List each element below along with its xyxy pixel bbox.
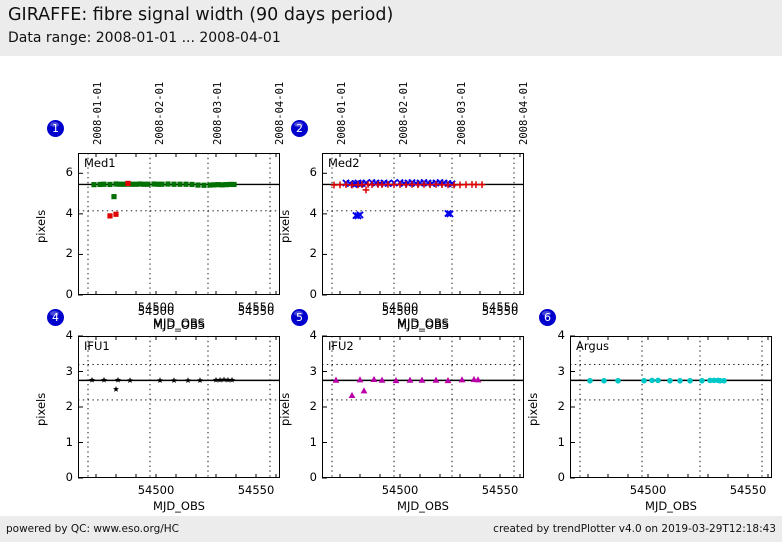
- panel-title: IFU1: [84, 339, 110, 353]
- y-tick-label: 4: [51, 328, 73, 342]
- plot-series-layer: [322, 153, 524, 295]
- plot-series-layer: [570, 336, 772, 478]
- y-tick-label: 1: [295, 435, 317, 449]
- x-tick-label: 54550: [228, 483, 284, 497]
- y-tick-label: 4: [295, 206, 317, 220]
- y-tick-label: 0: [295, 470, 317, 484]
- y-tick-label: 4: [543, 328, 565, 342]
- panel-badge-2: 2: [291, 120, 308, 137]
- y-tick-label: 3: [543, 364, 565, 378]
- x-tick-label-top: 54500: [128, 304, 184, 318]
- y-axis-label: pixels: [526, 393, 540, 426]
- x-tick-label: 54550: [472, 483, 528, 497]
- y-tick-label: 2: [543, 399, 565, 413]
- x-axis-label-top: MJD_OBS: [139, 318, 219, 332]
- x-tick-label: 54500: [620, 483, 676, 497]
- y-tick-label: 6: [51, 165, 73, 179]
- x-tick-label: 54550: [720, 483, 776, 497]
- plot-series-layer: [322, 336, 524, 478]
- y-axis-label: pixels: [278, 210, 292, 243]
- y-tick-label: 2: [51, 246, 73, 260]
- footer-divider: [0, 515, 782, 516]
- plot-panel-ifu1: IFU1: [78, 336, 280, 478]
- x-tick-label-top: 54550: [228, 304, 284, 318]
- page-title: GIRAFFE: fibre signal width (90 days per…: [8, 5, 393, 25]
- date-tick-label: 2008-03-01: [212, 82, 224, 145]
- plot-panel-med1: Med1: [78, 153, 280, 295]
- date-tick-label: 2008-02-01: [154, 82, 166, 145]
- y-tick-label: 2: [51, 399, 73, 413]
- panel-badge-5: 5: [291, 309, 308, 326]
- y-tick-label: 3: [295, 364, 317, 378]
- date-tick-label: 2008-02-01: [398, 82, 410, 145]
- page-footer: powered by QC: www.eso.org/HC created by…: [0, 515, 782, 542]
- x-tick-label: 54500: [128, 483, 184, 497]
- series-magenta-triangles: [333, 376, 482, 398]
- date-tick-label: 2008-04-01: [518, 82, 530, 145]
- y-tick-label: 2: [295, 399, 317, 413]
- y-axis-label: pixels: [278, 393, 292, 426]
- y-tick-label: 3: [51, 364, 73, 378]
- x-axis-label: MJD_OBS: [383, 499, 463, 513]
- page-header: GIRAFFE: fibre signal width (90 days per…: [0, 0, 782, 56]
- y-axis-label: pixels: [34, 210, 48, 243]
- date-tick-label: 2008-04-01: [274, 82, 286, 145]
- y-tick-label: 0: [295, 287, 317, 301]
- y-tick-label: 0: [543, 470, 565, 484]
- y-tick-label: 1: [51, 435, 73, 449]
- date-tick-label: 2008-03-01: [456, 82, 468, 145]
- y-tick-label: 4: [295, 328, 317, 342]
- plot-panel-med2: Med2: [322, 153, 524, 295]
- x-axis-label: MJD_OBS: [139, 499, 219, 513]
- plot-panel-ifu2: IFU2: [322, 336, 524, 478]
- page-subtitle: Data range: 2008-01-01 ... 2008-04-01: [8, 30, 281, 46]
- footer-credit-right: created by trendPlotter v4.0 on 2019-03-…: [493, 523, 776, 535]
- date-tick-label: 2008-01-01: [92, 82, 104, 145]
- y-tick-label: 4: [51, 206, 73, 220]
- panel-title: IFU2: [328, 339, 354, 353]
- x-tick-label-top: 54500: [372, 304, 428, 318]
- y-tick-label: 6: [295, 165, 317, 179]
- y-tick-label: 0: [51, 470, 73, 484]
- y-tick-label: 1: [543, 435, 565, 449]
- date-tick-label: 2008-01-01: [336, 82, 348, 145]
- x-tick-label: 54500: [372, 483, 428, 497]
- plot-series-layer: [78, 336, 280, 478]
- x-tick-label-top: 54550: [472, 304, 528, 318]
- plot-series-layer: [78, 153, 280, 295]
- footer-credit-left: powered by QC: www.eso.org/HC: [6, 523, 179, 535]
- panel-title: Argus: [576, 339, 609, 353]
- panel-badge-1: 1: [47, 120, 64, 137]
- y-tick-label: 0: [51, 287, 73, 301]
- y-tick-label: 2: [295, 246, 317, 260]
- panel-title: Med1: [84, 156, 116, 170]
- panel-badge-4: 4: [47, 309, 64, 326]
- panel-badge-6: 6: [539, 309, 556, 326]
- series-black-stars: [89, 376, 235, 391]
- x-axis-label-top: MJD_OBS: [383, 318, 463, 332]
- panel-title: Med2: [328, 156, 360, 170]
- x-axis-label: MJD_OBS: [631, 499, 711, 513]
- plot-panel-argus: Argus: [570, 336, 772, 478]
- y-axis-label: pixels: [34, 393, 48, 426]
